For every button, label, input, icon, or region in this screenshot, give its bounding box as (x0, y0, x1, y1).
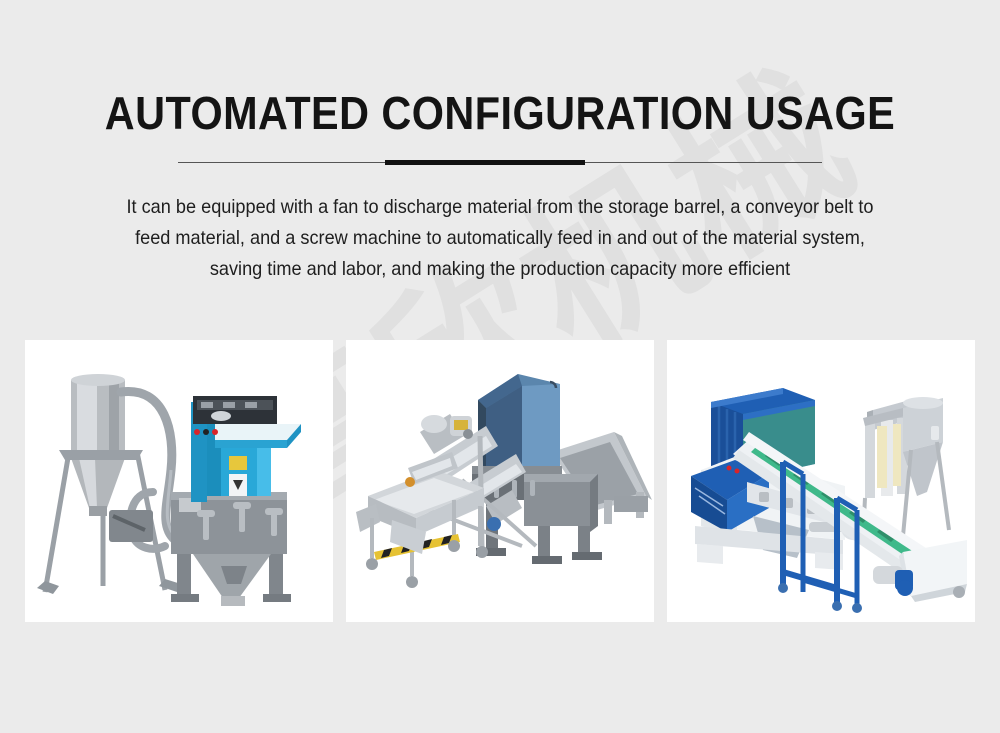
page-title: AUTOMATED CONFIGURATION USAGE (50, 86, 950, 140)
product-photo-cyclone-hopper-crusher-unit (25, 340, 333, 622)
gallery-card-2[interactable] (346, 340, 654, 622)
page-root: 高欣机械 AUTOMATED CONFIGURATION USAGE It ca… (0, 0, 1000, 733)
description-line-2: feed material, and a screw machine to au… (102, 223, 898, 254)
description-line-3: saving time and labor, and making the pr… (102, 254, 898, 285)
page-description: It can be equipped with a fan to dischar… (102, 192, 898, 285)
product-photo-screw-feeder-production-line (346, 340, 654, 622)
product-image-gallery (25, 340, 975, 622)
description-line-1: It can be equipped with a fan to dischar… (102, 192, 898, 223)
title-divider (178, 160, 822, 166)
gallery-card-1[interactable] (25, 340, 333, 622)
gallery-card-3[interactable] (667, 340, 975, 622)
divider-accent-bar (385, 160, 585, 165)
product-photo-belt-conveyor-crusher-cyclone-line (667, 340, 975, 622)
